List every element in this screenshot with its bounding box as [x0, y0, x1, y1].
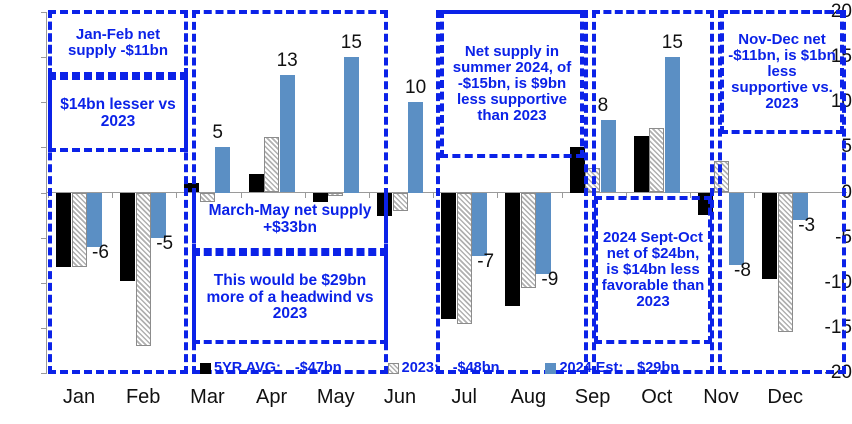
legend-label-2024-est: 2024 Est: [559, 360, 623, 376]
legend-label-5yr-avg: 5YR AVG: [214, 360, 281, 376]
bar-jun-series-2 [408, 102, 423, 192]
x-label-nov: Nov [688, 386, 754, 409]
annotation-jan-feb-net-text: Jan-Feb net supply -$11bn [52, 27, 184, 59]
x-label-may: May [303, 386, 369, 409]
annotation-march-may-headwind-text: This would be $29bn more of a headwind v… [196, 273, 384, 323]
annotation-jan-feb-lesser-text: $14bn lesser vs 2023 [52, 97, 184, 130]
annotation-nov-dec-net-text: Nov-Dec net -$11bn, is $1bn less support… [724, 32, 840, 113]
legend-item-2023: 2023: -$48bn [388, 360, 500, 376]
annotation-sept-oct-net: 2024 Sept-Oct net of $24bn, is $14bn les… [594, 196, 712, 344]
annotation-jan-feb-lesser: $14bn lesser vs 2023 [48, 76, 188, 152]
legend-label-2023: 2023: [402, 360, 439, 376]
x-label-mar: Mar [174, 386, 240, 409]
data-label-jun: 10 [405, 78, 426, 97]
x-label-jan: Jan [46, 386, 112, 409]
legend-swatch-2024-est [545, 363, 556, 374]
legend-value-2024-est: $29bn [637, 360, 679, 376]
x-label-dec: Dec [752, 386, 818, 409]
legend-value-2023: -$48bn [453, 360, 500, 376]
annotation-march-may-net-text: March-May net supply +$33bn [196, 203, 384, 236]
x-label-oct: Oct [624, 386, 690, 409]
legend-swatch-2023 [388, 363, 399, 374]
annotation-march-may-net: March-May net supply +$33bn [192, 192, 388, 252]
chart-legend: 5YR AVG: -$47bn 2023: -$48bn 2024 Est: $… [200, 360, 725, 376]
annotation-march-may-headwind: This would be $29bn more of a headwind v… [192, 252, 388, 344]
annotation-jan-feb-net: Jan-Feb net supply -$11bn [48, 10, 188, 76]
x-label-jun: Jun [367, 386, 433, 409]
x-label-apr: Apr [239, 386, 305, 409]
annotation-summer-net: Net supply in summer 2024, of -$15bn, is… [440, 10, 584, 158]
legend-item-2024-est: 2024 Est: $29bn [545, 360, 679, 376]
annotation-nov-dec-net: Nov-Dec net -$11bn, is $1bn less support… [720, 10, 844, 134]
annotation-summer-net-text: Net supply in summer 2024, of -$15bn, is… [444, 44, 580, 125]
legend-swatch-5yr-avg [200, 363, 211, 374]
x-label-aug: Aug [495, 386, 561, 409]
bar-jun-series-1 [393, 193, 408, 211]
chart-root: 20151050-5-10-15-20 -6-55131510-7-9815-8… [0, 0, 852, 424]
legend-value-5yr-avg: -$47bn [295, 360, 342, 376]
x-label-jul: Jul [431, 386, 497, 409]
x-label-feb: Feb [110, 386, 176, 409]
annotation-sept-oct-net-text: 2024 Sept-Oct net of $24bn, is $14bn les… [598, 230, 708, 311]
legend-item-5yr-avg: 5YR AVG: -$47bn [200, 360, 342, 376]
x-label-sep: Sep [560, 386, 626, 409]
